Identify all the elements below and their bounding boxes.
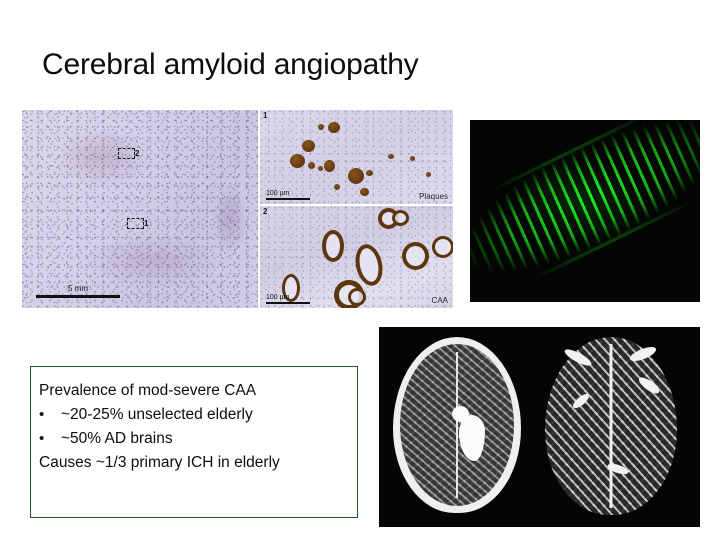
mri-midline <box>610 344 613 508</box>
ct-brain-parenchyma <box>400 344 514 506</box>
scalebar-plaques: 100 µm <box>266 190 310 200</box>
figure-histology-overview: 2 1 5 mm <box>22 110 258 308</box>
scalebar-plaques-bar <box>266 198 310 200</box>
prevalence-textbox: Prevalence of mod-severe CAA • ~20-25% u… <box>30 366 358 518</box>
panel-caption-plaques: Plaques <box>419 192 448 201</box>
caa-vessel <box>392 210 409 226</box>
histology-texture <box>22 110 258 308</box>
panel-caption-caa: CAA <box>432 296 448 305</box>
prevalence-footer: Causes ~1/3 primary ICH in elderly <box>39 451 347 475</box>
roi-label-2: 2 <box>135 150 139 158</box>
list-item-label: ~50% AD brains <box>61 427 173 451</box>
list-item: • ~20-25% unselected elderly <box>39 403 347 427</box>
plaque-deposit <box>348 168 364 184</box>
list-item: • ~50% AD brains <box>39 427 347 451</box>
plaque-deposit <box>318 166 323 171</box>
prevalence-heading: Prevalence of mod-severe CAA <box>39 379 347 403</box>
panel-number-caa: 2 <box>263 207 267 216</box>
ct-skull <box>393 337 521 513</box>
roi-label-1: 1 <box>144 220 148 228</box>
figure-fluorescence-vessel <box>470 120 700 302</box>
list-item-label: ~20-25% unselected elderly <box>61 403 253 427</box>
caa-vessel <box>322 230 344 262</box>
scalebar-caa-label: 100 µm <box>266 294 310 302</box>
figure-histology-caa: 2 100 µm CAA <box>260 206 453 308</box>
plaque-deposit <box>324 160 335 172</box>
bullet-icon: • <box>39 403 61 426</box>
plaque-deposit <box>426 172 431 177</box>
scalebar-caa-bar <box>266 302 310 304</box>
scalebar-plaques-label: 100 µm <box>266 190 310 198</box>
plaque-deposit <box>302 140 315 152</box>
scalebar-overview-label: 5 mm <box>36 285 120 294</box>
mri-hyperintensity <box>563 346 594 368</box>
caa-vessel <box>402 242 429 270</box>
plaque-deposit <box>366 170 373 176</box>
ct-hemorrhage-lesion <box>459 415 485 461</box>
figure-brain-scans <box>379 327 700 527</box>
mri-hyperintensity <box>628 344 658 364</box>
plaque-deposit <box>360 188 369 196</box>
panel-number-plaques: 1 <box>263 111 267 120</box>
plaque-deposit <box>290 154 305 168</box>
caa-vessel <box>432 236 453 258</box>
figure-histology-plaques: 1 100 µm Plaques <box>260 110 453 204</box>
scalebar-caa: 100 µm <box>266 294 310 304</box>
page-title: Cerebral amyloid angiopathy <box>42 48 419 82</box>
scalebar-overview-bar <box>36 295 120 298</box>
scalebar-overview: 5 mm <box>36 285 120 298</box>
mri-brain <box>545 337 677 515</box>
caa-vessel <box>348 288 366 306</box>
slide-canvas: Cerebral amyloid angiopathy 2 1 5 mm 1 1… <box>0 0 720 540</box>
mri-hyperintensity <box>571 392 591 411</box>
bullet-icon: • <box>39 427 61 450</box>
ct-midline <box>456 352 458 498</box>
plaque-deposit <box>308 162 315 169</box>
mri-hyperintensity <box>637 375 662 396</box>
plaque-deposit <box>328 122 340 133</box>
plaque-deposit <box>318 124 324 130</box>
plaque-deposit <box>334 184 340 190</box>
plaque-deposit <box>410 156 415 161</box>
roi-box-2 <box>118 148 135 159</box>
roi-box-1 <box>127 218 144 229</box>
plaque-deposit <box>388 154 394 159</box>
